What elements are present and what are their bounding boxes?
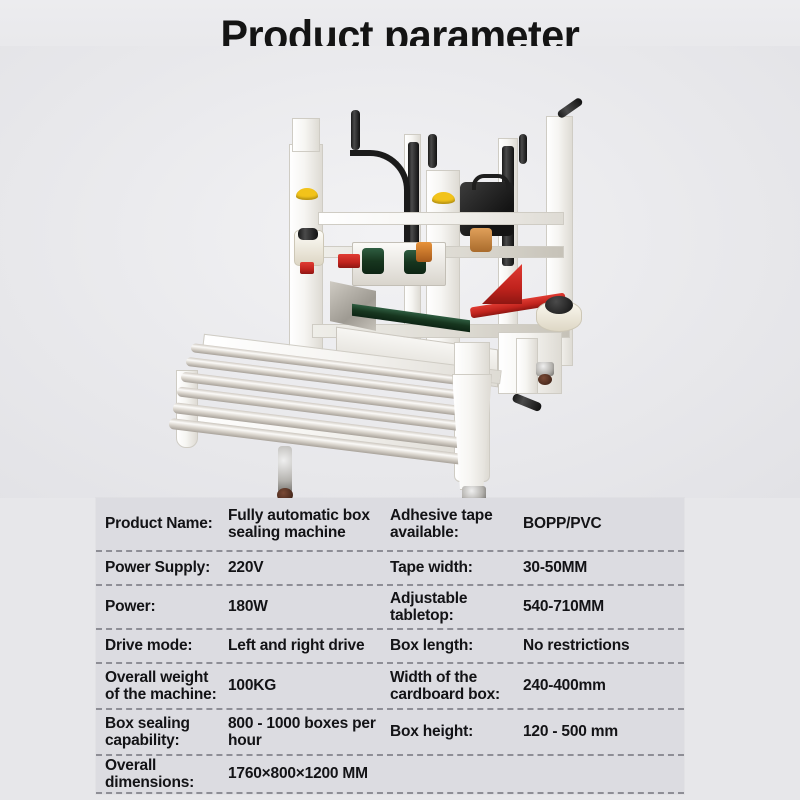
machine-roller-table (178, 346, 498, 496)
spec-value-2: 120 - 500 mm (523, 710, 684, 754)
spec-value: 100KG (228, 664, 390, 708)
product-photo (0, 46, 800, 498)
table-row: Box sealing capability: 800 - 1000 boxes… (96, 710, 684, 756)
spec-value: 180W (228, 586, 390, 628)
spec-label: Product Name: (96, 498, 228, 550)
spec-value: 220V (228, 552, 390, 584)
spec-label-2: Box height: (390, 710, 523, 754)
table-row: Overall weight of the machine: 100KG Wid… (96, 664, 684, 710)
machine-tape-roll-left-hub (298, 228, 318, 240)
machine-handle-crank (511, 393, 542, 413)
machine-crossbeam-upper (318, 212, 564, 225)
spec-label-2: Adhesive tape available: (390, 498, 523, 550)
table-row: Product Name: Fully automatic box sealin… (96, 498, 684, 552)
spec-value-2: 540-710MM (523, 586, 684, 628)
machine-caster-front (462, 486, 486, 498)
machine-decal-left (296, 188, 318, 200)
machine-tape-roll-right-hub (545, 296, 573, 314)
spec-value: 800 - 1000 boxes per hour (228, 710, 390, 754)
table-row: Power Supply: 220V Tape width: 30-50MM (96, 552, 684, 586)
spec-label: Drive mode: (96, 630, 228, 662)
spec-table: Product Name: Fully automatic box sealin… (96, 498, 684, 794)
machine-knob-b (428, 134, 437, 168)
spec-value-2: No restrictions (523, 630, 684, 662)
machine-tape-head-bracket (338, 254, 360, 268)
spec-label-2: Adjustable tabletop: (390, 586, 523, 628)
machine-caster-rear-wheel (538, 374, 552, 385)
spec-label: Overall dimensions: (96, 756, 228, 792)
spec-value: Fully automatic box sealing machine (228, 498, 390, 550)
spec-value: Left and right drive (228, 630, 390, 662)
spec-label-2: Width of the cardboard box: (390, 664, 523, 708)
machine-tape-roll-left-arm (300, 262, 314, 274)
machine-knob-a (351, 110, 360, 150)
machine-table-caster-wheel (277, 488, 293, 498)
table-row: Overall dimensions: 1760×800×1200 MM (96, 756, 684, 794)
spec-value-2: 30-50MM (523, 552, 684, 584)
spec-label-2: Box length: (390, 630, 523, 662)
table-row: Power: 180W Adjustable tabletop: 540-710… (96, 586, 684, 630)
spec-value-2: BOPP/PVC (523, 498, 684, 550)
machine-decal-middle (432, 192, 455, 204)
machine-column-left-top (292, 118, 320, 152)
machine-roller-orange-a (416, 242, 432, 262)
machine-roller-orange-b (470, 228, 492, 252)
spec-label: Power Supply: (96, 552, 228, 584)
spec-value: 1760×800×1200 MM (228, 756, 684, 792)
machine-table-leg (278, 446, 292, 494)
spec-label: Overall weight of the machine: (96, 664, 228, 708)
table-row: Drive mode: Left and right drive Box len… (96, 630, 684, 664)
machine-drive-belt-left (362, 248, 384, 274)
spec-label: Power: (96, 586, 228, 628)
machine-knob-c (519, 134, 527, 164)
spec-label: Box sealing capability: (96, 710, 228, 754)
machine-motor-handle (472, 174, 510, 190)
spec-label-2: Tape width: (390, 552, 523, 584)
spec-value-2: 240-400mm (523, 664, 684, 708)
carton-sealing-machine-illustration (0, 46, 800, 498)
machine-leg-rear (516, 338, 538, 394)
